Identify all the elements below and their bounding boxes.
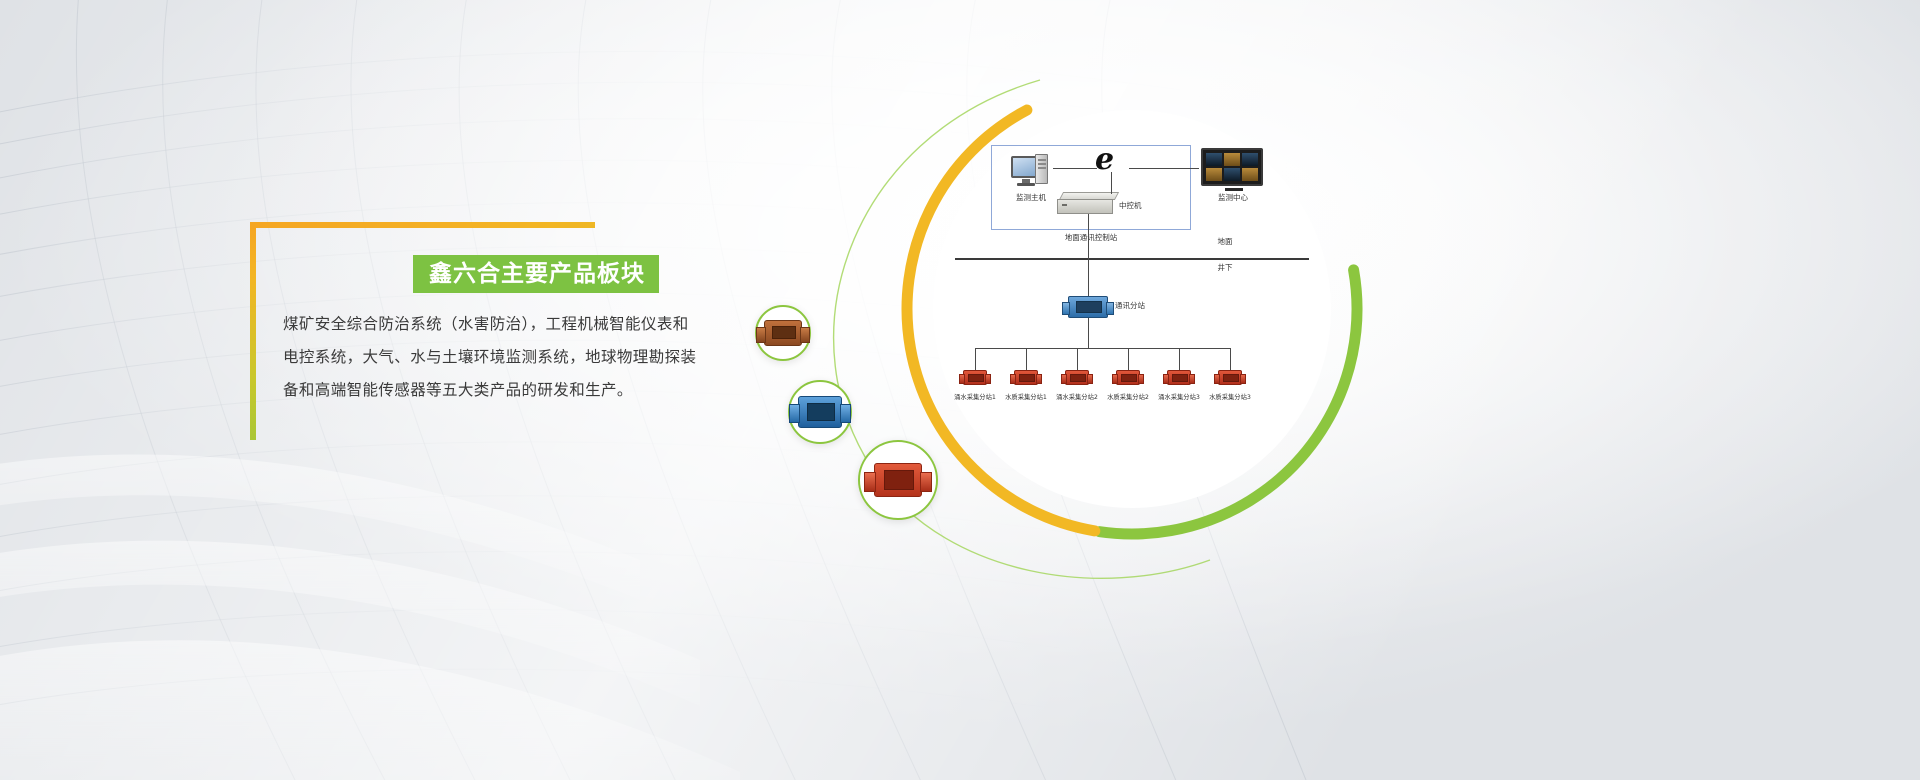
page-title: 鑫六合主要产品板块 <box>429 263 645 286</box>
label-monitoring-center: 监测中心 <box>1203 194 1263 202</box>
wire-drop-5 <box>1179 348 1180 370</box>
wire-cloud-to-controller <box>1111 172 1112 194</box>
red-collector-icon <box>1218 370 1242 385</box>
wire-substation-bus-drop <box>1088 318 1089 348</box>
wire-substation-bus <box>975 348 1231 349</box>
red-collector-icon <box>1116 370 1140 385</box>
paragraph-line-1: 煤矿安全综合防治系统（水害防治），工程机械智能仪表和 <box>283 308 703 341</box>
red-collector-icon <box>1167 370 1191 385</box>
red-collector-icon <box>963 370 987 385</box>
blue-device-icon <box>798 396 842 428</box>
red-collector-icon <box>1014 370 1038 385</box>
section-title-banner: 鑫六合主要产品板块 <box>413 255 659 293</box>
description-paragraph: 煤矿安全综合防治系统（水害防治），工程机械智能仪表和 电控系统，大气、水与土壤环… <box>283 308 703 407</box>
wire-host-to-cloud <box>1053 168 1097 169</box>
schematic-content: 监测主机 e 监测中心 中控机 地面通讯控制站 地面 井下 <box>933 110 1331 508</box>
monitor-icon <box>1011 156 1047 186</box>
tv-wall-icon <box>1201 148 1263 186</box>
computer-tower-icon <box>1035 154 1048 184</box>
internet-cloud-icon: e <box>1095 148 1129 174</box>
blue-substation-icon <box>1068 296 1108 318</box>
ground-divider <box>955 258 1309 260</box>
label-controller: 中控机 <box>1119 202 1163 210</box>
wire-drop-6 <box>1230 348 1231 370</box>
label-monitor-host: 监测主机 <box>1003 194 1059 202</box>
label-collector-6: 水质采集分站3 <box>1195 395 1265 402</box>
wire-drop-1 <box>975 348 976 370</box>
wire-cloud-to-center <box>1129 168 1199 169</box>
brown-device-icon <box>764 320 802 346</box>
server-icon <box>1061 192 1117 216</box>
wire-drop-3 <box>1077 348 1078 370</box>
paragraph-line-2: 电控系统，大气、水与土壤环境监测系统，地球物理勘探装 <box>283 341 703 374</box>
product-bubble-blue[interactable] <box>788 380 852 444</box>
wire-drop-4 <box>1128 348 1129 370</box>
label-surface: 地面 <box>1205 238 1245 246</box>
paragraph-line-3: 备和高端智能传感器等五大类产品的研发和生产。 <box>283 374 703 407</box>
label-surface-station: 地面通讯控制站 <box>1021 234 1161 242</box>
red-device-icon <box>874 463 922 497</box>
system-diagram: 监测主机 e 监测中心 中控机 地面通讯控制站 地面 井下 <box>740 40 1380 600</box>
product-bubble-red[interactable] <box>858 440 938 520</box>
wire-controller-to-substation <box>1088 214 1089 296</box>
red-collector-icon <box>1065 370 1089 385</box>
product-bubble-brown[interactable] <box>755 305 811 361</box>
label-comm-substation: 通讯分站 <box>1115 302 1165 310</box>
wire-drop-2 <box>1026 348 1027 370</box>
label-underground: 井下 <box>1205 264 1245 272</box>
